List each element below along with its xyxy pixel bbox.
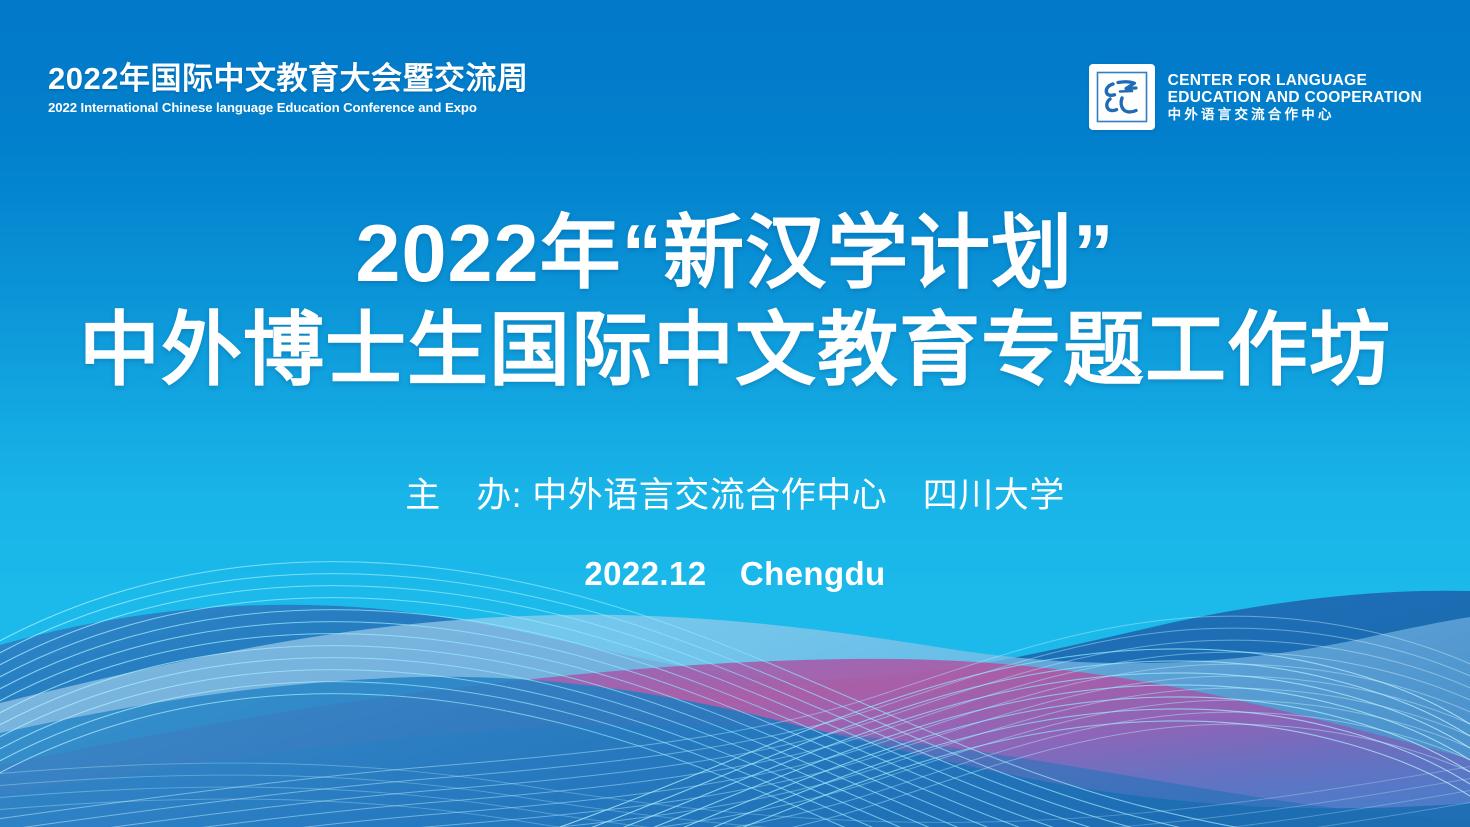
conference-title-en: 2022 International Chinese language Educ… xyxy=(48,100,528,115)
clec-logo: CENTER FOR LANGUAGE EDUCATION AND COOPER… xyxy=(1089,64,1422,130)
logo-line-1: CENTER FOR LANGUAGE xyxy=(1168,72,1422,89)
logo-line-2: EDUCATION AND COOPERATION xyxy=(1168,89,1422,106)
logo-line-3-cn: 中外语言交流合作中心 xyxy=(1168,107,1422,122)
slide-header: 2022年国际中文教育大会暨交流周 2022 International Chi… xyxy=(0,0,1470,150)
clec-brush-logo-icon xyxy=(1089,64,1155,130)
clec-logo-text: CENTER FOR LANGUAGE EDUCATION AND COOPER… xyxy=(1168,72,1422,123)
main-title-line-2: 中外博士生国际中文教育专题工作坊 xyxy=(0,311,1470,392)
wave-decoration xyxy=(0,527,1470,827)
conference-title-cn: 2022年国际中文教育大会暨交流周 xyxy=(48,62,528,95)
conference-branding: 2022年国际中文教育大会暨交流周 2022 International Chi… xyxy=(48,62,528,115)
presentation-slide: 2022年国际中文教育大会暨交流周 2022 International Chi… xyxy=(0,0,1470,827)
main-title-line-1: 2022年“新汉学计划” xyxy=(0,214,1470,295)
organizer-line: 主 办: 中外语言交流合作中心 四川大学 xyxy=(0,478,1470,513)
